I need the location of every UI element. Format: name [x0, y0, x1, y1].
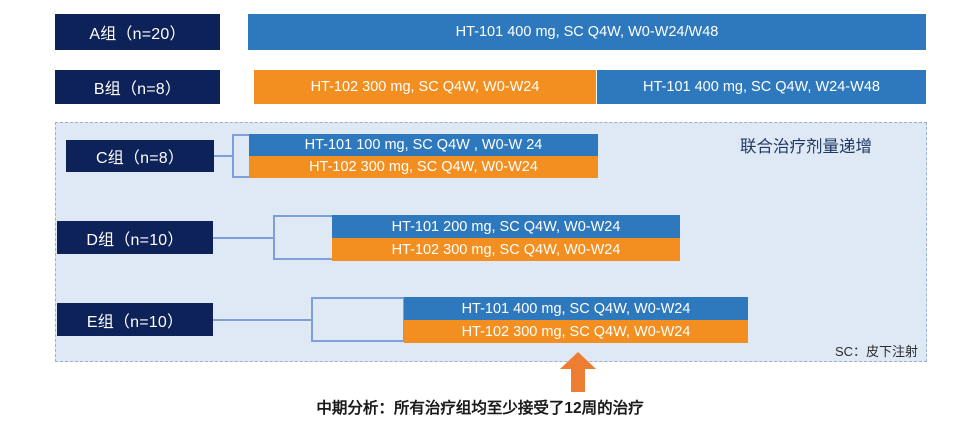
group-label-b: B组（n=8） — [55, 70, 220, 104]
treatment-bar-d-2: HT-102 300 mg, SC Q4W, W0-W24 — [332, 238, 680, 261]
treatment-bar-b-1: HT-102 300 mg, SC Q4W, W0-W24 — [254, 70, 596, 104]
connector-bracket-d — [213, 215, 333, 260]
treatment-bar-e-2: HT-102 300 mg, SC Q4W, W0-W24 — [404, 320, 748, 343]
interim-analysis-caption: 中期分析：所有治疗组均至少接受了12周的治疗 — [0, 396, 960, 418]
connector-bracket-e — [213, 297, 405, 342]
treatment-bar-e-1: HT-101 400 mg, SC Q4W, W0-W24 — [404, 297, 748, 320]
connector-bracket-c — [214, 134, 250, 178]
combination-therapy-panel-title: 联合治疗剂量递增 — [706, 133, 906, 157]
group-label-a: A组（n=20） — [55, 14, 220, 50]
study-design-diagram: 联合治疗剂量递增 SC：皮下注射 A组（n=20） HT-101 400 mg,… — [0, 0, 960, 439]
treatment-bar-d-1: HT-101 200 mg, SC Q4W, W0-W24 — [332, 215, 680, 238]
group-label-e: E组（n=10） — [57, 303, 213, 336]
treatment-bar-a-1: HT-101 400 mg, SC Q4W, W0-W24/W48 — [248, 14, 926, 50]
up-arrow-icon — [560, 352, 596, 392]
treatment-bar-c-1: HT-101 100 mg, SC Q4W , W0-W 24 — [249, 134, 598, 156]
treatment-bar-c-2: HT-102 300 mg, SC Q4W, W0-W24 — [249, 156, 598, 178]
treatment-bar-b-2: HT-101 400 mg, SC Q4W, W24-W48 — [597, 70, 926, 104]
group-label-c: C组（n=8） — [66, 140, 214, 172]
sc-abbreviation-footnote: SC：皮下注射 — [800, 341, 918, 360]
group-label-d: D组（n=10） — [57, 221, 213, 254]
